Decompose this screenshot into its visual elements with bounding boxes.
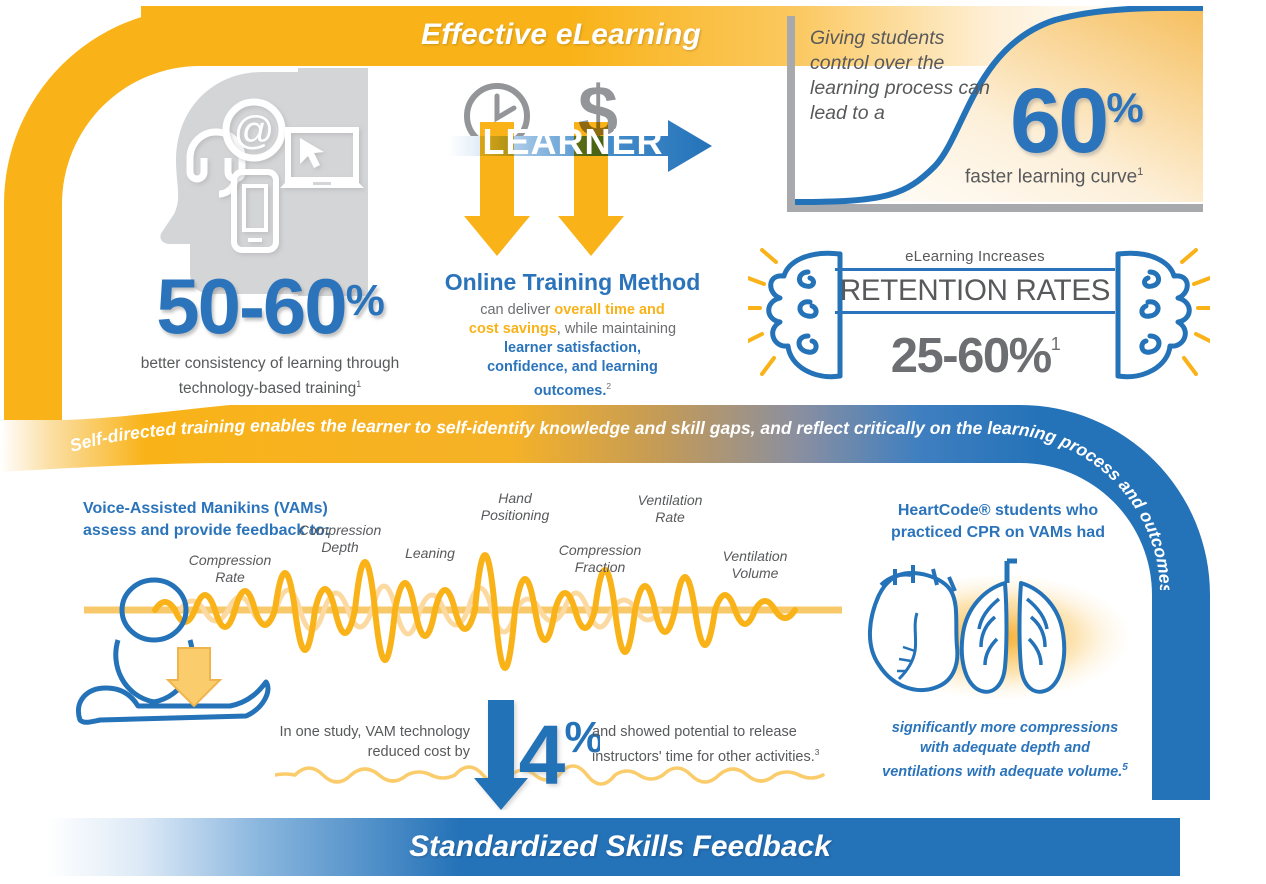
svg-text:@: @	[234, 109, 275, 153]
retention-rule-bottom	[835, 311, 1115, 314]
heart-icon	[870, 565, 957, 690]
learning-curve-number: 60%	[1010, 62, 1141, 167]
learning-curve-quote: Giving students control over the learnin…	[810, 26, 990, 126]
otm-title: Online Training Method	[430, 268, 715, 297]
spark-rays	[748, 250, 776, 374]
heartcode-caption: significantly more compressions with ade…	[855, 718, 1155, 782]
chart-y-axis	[787, 16, 795, 212]
cost-digit: 4	[519, 708, 566, 802]
stat-consistency-number: 50-60%	[105, 262, 435, 345]
brain-icon-right	[1100, 246, 1210, 396]
retention-rule-top	[835, 268, 1115, 271]
cost-reduction-number: 4 %	[470, 700, 600, 810]
retention-block: eLearning Increases RETENTION RATES 25-6…	[835, 248, 1115, 383]
stat-consistency-caption: better consistency of learning through t…	[105, 353, 435, 399]
heart-lungs-graphic	[855, 555, 1145, 715]
bottom-banner-title: Standardized Skills Feedback	[80, 824, 1160, 870]
retention-title: RETENTION RATES	[835, 274, 1115, 308]
learner-label: LEARNER	[482, 121, 663, 162]
compression-arrow	[168, 648, 220, 706]
cost-study-right-text: and showed potential to release instruct…	[592, 722, 842, 767]
infographic-canvas: Effective eLearning @	[0, 0, 1266, 884]
learner-flow-graphic: $ LEARNER	[440, 78, 720, 268]
otm-body: can deliver overall time and cost saving…	[430, 301, 715, 401]
learning-curve-caption: faster learning curve1	[965, 166, 1143, 188]
stat-consistency: 50-60% better consistency of learning th…	[105, 262, 435, 399]
online-training-method: Online Training Method can deliver overa…	[430, 268, 715, 401]
blue-arc-right	[1152, 595, 1210, 800]
heartcode-title: HeartCode® students whopracticed CPR on …	[868, 500, 1128, 544]
retention-top-label: eLearning Increases	[835, 248, 1115, 265]
vam-waveform-graphic	[60, 490, 850, 730]
chart-x-axis	[787, 204, 1203, 212]
spark-rays	[1182, 250, 1210, 374]
retention-number: 25-60%1	[835, 317, 1115, 383]
